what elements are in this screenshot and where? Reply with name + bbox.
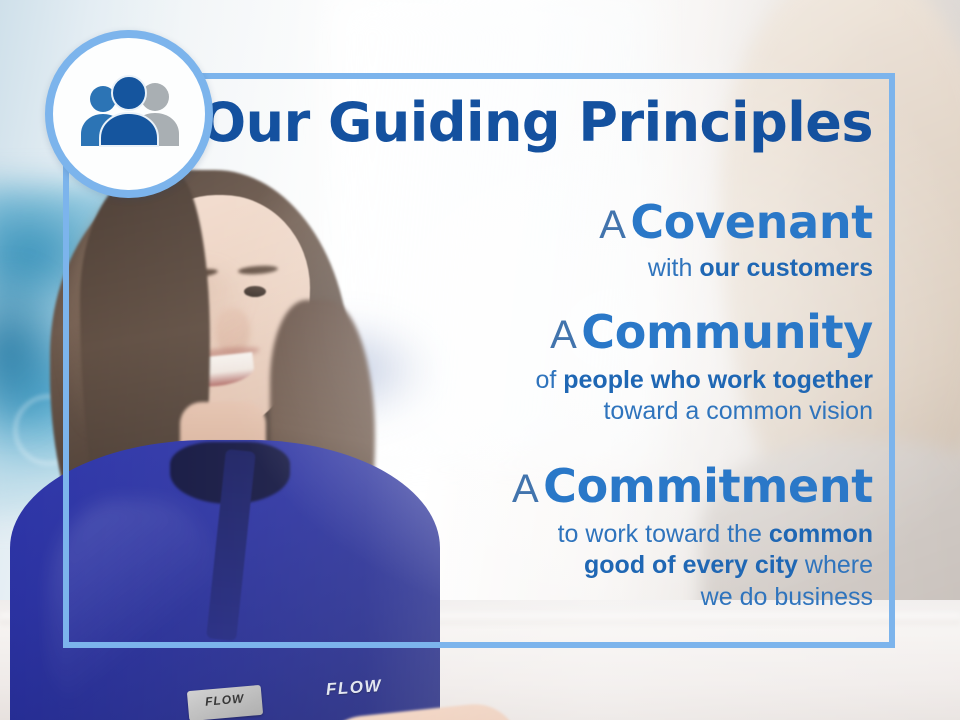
people-group-icon bbox=[75, 75, 183, 153]
shirt-chest-logo: FLOW bbox=[325, 676, 382, 700]
person-center-head bbox=[112, 76, 146, 110]
poster-canvas: FLOW FLOW Our Guiding Principles A Coven… bbox=[0, 0, 960, 720]
foreground-woman: FLOW FLOW bbox=[20, 150, 540, 720]
woman-name-badge: FLOW bbox=[187, 685, 263, 720]
blurred-second-person bbox=[700, 0, 960, 650]
woman-shirt-highlight bbox=[50, 500, 220, 720]
woman-eye-right bbox=[244, 286, 266, 297]
name-badge-text: FLOW bbox=[187, 690, 262, 710]
people-badge bbox=[45, 30, 213, 198]
